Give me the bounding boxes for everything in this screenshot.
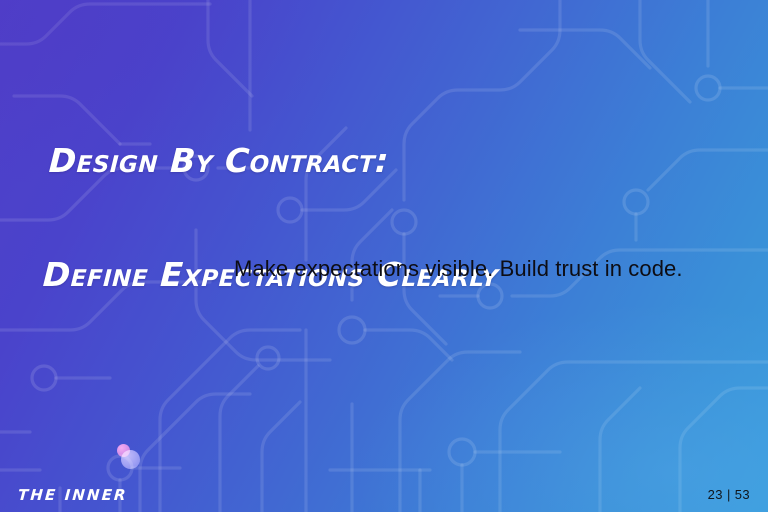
page-indicator: 23 | 53 [708,487,750,502]
slide-title-line-1: Design by Contract: [48,142,505,180]
brand-logo-dots-icon [109,442,145,476]
presentation-slide: Design by Contract: Define Expectations … [0,0,768,512]
brand-logo: The Inner Developer [16,448,216,498]
slide-title: Design by Contract: Define Expectations … [38,66,509,370]
brand-logo-line-1: The Inner [17,486,136,505]
slide-subtitle: Make expectations visible. Build trust i… [234,254,683,284]
brand-dot-large-icon [121,450,140,469]
